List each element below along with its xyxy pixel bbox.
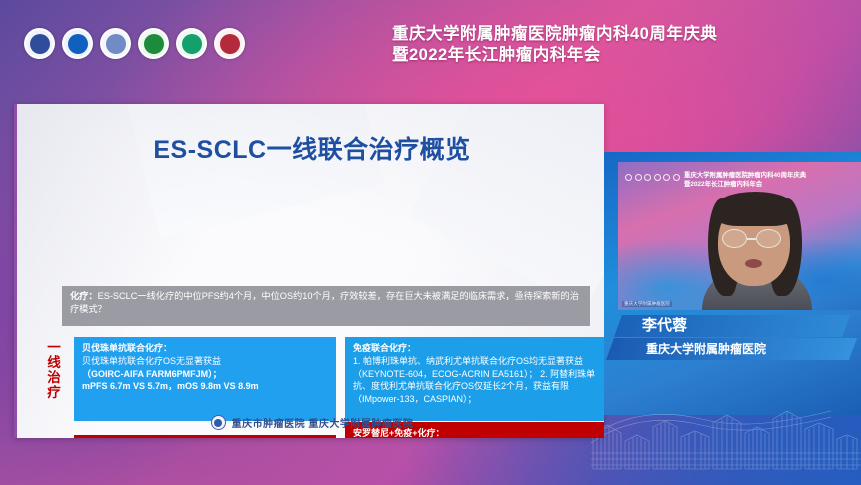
gray-box-body: ES-SCLC一线化疗的中位PFS约4个月，中位OS约10个月，疗效较差，存在巨… <box>70 291 579 314</box>
speaker-glasses-right-lens <box>756 229 781 248</box>
logo-medical-association-icon <box>100 28 131 59</box>
vlabel-char-4: 疗 <box>41 385 67 400</box>
logo-green-cross-icon <box>138 28 169 59</box>
blue-box-line-3: mPFS 6.7m VS 5.7m，mOS 9.8m VS 8.9m <box>82 381 259 391</box>
feed-logo-6-icon <box>673 174 680 181</box>
blue-box-line-1: 贝伐珠单抗联合化疗OS无显著获益 <box>82 356 221 366</box>
banner-logo-strip <box>24 28 245 59</box>
feed-logo-2-icon <box>635 174 642 181</box>
speaker-hair-top <box>714 192 796 226</box>
blue-box-heading: 贝伐珠单抗联合化疗： <box>82 342 329 355</box>
banner-title-line-2: 暨2022年长江肿瘤内科年会 <box>392 45 822 66</box>
slide-footer-text: 重庆市肿瘤医院 重庆大学附属肿瘤医院 <box>232 415 414 430</box>
bevacizumab-chemo-box: 贝伐珠单抗联合化疗： 贝伐珠单抗联合化疗OS无显著获益 （GOIRC-AIFA … <box>74 337 336 421</box>
feed-logo-5-icon <box>663 174 670 181</box>
logo-cqu-cancer-hospital-icon <box>24 28 55 59</box>
speaker-name: 李代蓉 <box>642 314 842 337</box>
logo-caduceus-icon <box>176 28 207 59</box>
speaker-mouth <box>745 259 762 268</box>
speaker-glasses-left-lens <box>722 229 747 248</box>
logo-red-emblem-icon <box>214 28 245 59</box>
feed-logo-1-icon <box>625 174 632 181</box>
speaker-glasses-bridge <box>747 238 756 240</box>
banner-title-line-1: 重庆大学附属肿瘤医院肿瘤内科40周年庆典 <box>392 24 822 45</box>
chemotherapy-summary-box: 化疗：ES-SCLC一线化疗的中位PFS约4个月，中位OS约10个月，疗效较差，… <box>62 286 590 326</box>
speaker-video-panel[interactable]: 重庆大学附属肿瘤医院肿瘤内科40周年庆典 暨2022年长江肿瘤内科年会 重庆大学… <box>604 152 861 415</box>
banner-title: 重庆大学附属肿瘤医院肿瘤内科40周年庆典 暨2022年长江肿瘤内科年会 <box>392 24 822 66</box>
feed-logo-strip <box>625 174 680 181</box>
feed-logo-4-icon <box>654 174 661 181</box>
slide-title: ES-SCLC一线联合治疗概览 <box>17 130 604 166</box>
feed-banner-title: 重庆大学附属肿瘤医院肿瘤内科40周年庆典 暨2022年长江肿瘤内科年会 <box>684 172 859 189</box>
first-line-treatment-label: 一 线 治 疗 <box>41 340 67 400</box>
event-banner: 重庆大学附属肿瘤医院肿瘤内科40周年庆典 暨2022年长江肿瘤内科年会 <box>0 0 861 96</box>
vlabel-char-1: 一 <box>41 340 67 355</box>
logo-csco-icon <box>62 28 93 59</box>
blue-box-line-2: （GOIRC-AIFA FARM6PMFJM）； <box>82 369 222 379</box>
anlotinib-chemo-box: 安罗替尼联合化疗： 安罗替尼联合化疗获益显著，ORR达80%-90%， mPFS… <box>74 435 336 438</box>
slide-footer: 重庆市肿瘤医院 重庆大学附属肿瘤医院 <box>17 415 604 430</box>
feed-title-line-2: 暨2022年长江肿瘤内科年会 <box>684 181 859 190</box>
gray-box-heading: 化疗： <box>70 291 98 301</box>
vlabel-char-3: 治 <box>41 370 67 385</box>
presentation-slide: ES-SCLC一线联合治疗概览 化疗：ES-SCLC一线化疗的中位PFS约4个月… <box>14 104 604 438</box>
immunotherapy-chemo-box: 免疫联合化疗： 1. 帕博利珠单抗、纳武利尤单抗联合化疗OS均无显著获益（KEY… <box>345 337 604 421</box>
vlabel-char-2: 线 <box>41 355 67 370</box>
feed-watermark: 重庆大学附属肿瘤医院 <box>622 301 672 307</box>
hospital-logo-icon <box>211 415 226 430</box>
screen-root: 重庆大学附属肿瘤医院肿瘤内科40周年庆典 暨2022年长江肿瘤内科年会 ES-S… <box>0 0 861 485</box>
teal-box-heading: 免疫联合化疗： <box>353 342 600 355</box>
speaker-organization: 重庆大学附属肿瘤医院 <box>646 339 851 360</box>
feed-logo-3-icon <box>644 174 651 181</box>
feed-title-line-1: 重庆大学附属肿瘤医院肿瘤内科40周年庆典 <box>684 172 859 181</box>
speaker-video-feed[interactable]: 重庆大学附属肿瘤医院肿瘤内科40周年庆典 暨2022年长江肿瘤内科年会 重庆大学… <box>618 162 861 310</box>
